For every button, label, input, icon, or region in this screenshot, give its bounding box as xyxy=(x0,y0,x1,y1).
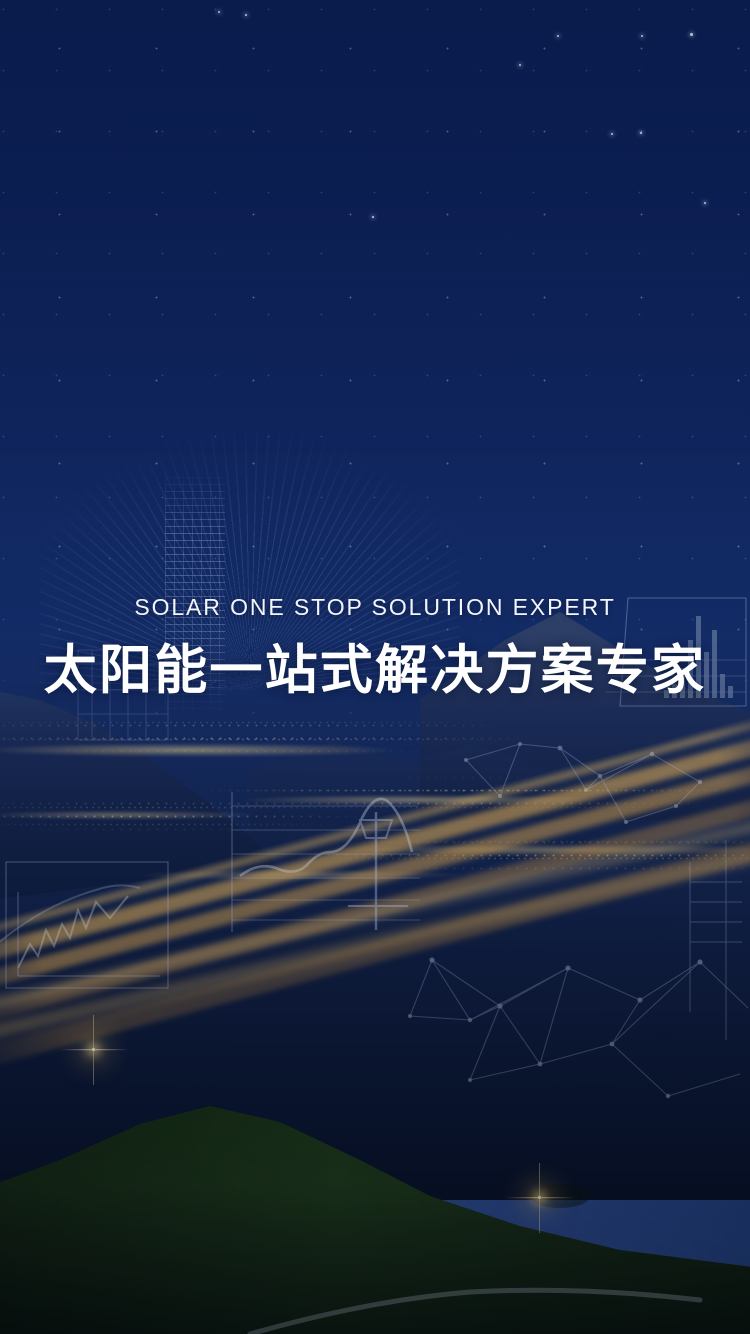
lens-flare-right xyxy=(538,1196,541,1199)
star xyxy=(690,33,693,36)
star xyxy=(640,132,642,134)
star xyxy=(218,11,220,13)
hero-banner: SOLAR ONE STOP SOLUTION EXPERT 太阳能一站式解决方… xyxy=(0,0,750,1334)
hero-eyebrow: SOLAR ONE STOP SOLUTION EXPERT xyxy=(0,596,750,619)
star xyxy=(557,35,559,37)
star xyxy=(704,202,706,204)
star xyxy=(245,14,247,16)
star xyxy=(519,64,521,66)
star xyxy=(372,216,374,218)
star xyxy=(611,133,613,135)
lens-flare-left xyxy=(92,1048,95,1051)
hero-headline: 太阳能一站式解决方案专家 xyxy=(0,643,750,699)
star xyxy=(641,35,643,37)
hero-copy: SOLAR ONE STOP SOLUTION EXPERT 太阳能一站式解决方… xyxy=(0,596,750,699)
